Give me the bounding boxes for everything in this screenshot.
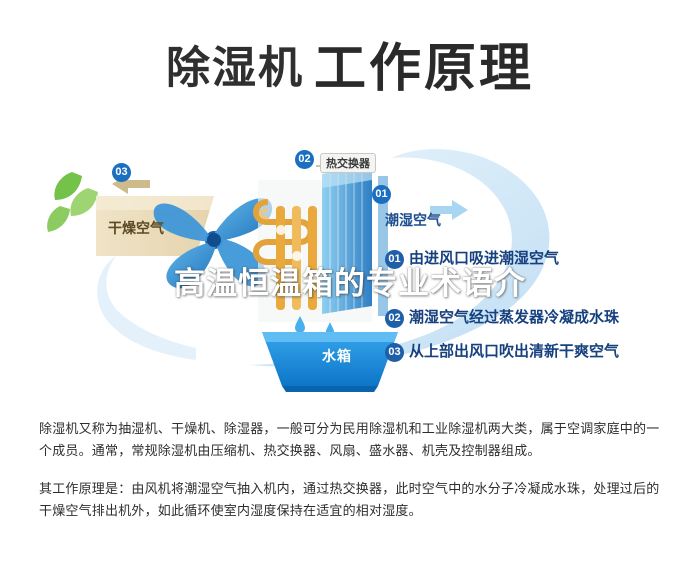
page-root: 除湿机工作原理 <box>0 0 700 566</box>
step-3-text: 从上部出风口吹出清新干爽空气 <box>409 343 619 360</box>
leaf-icon <box>47 172 98 232</box>
paragraph-1: 除湿机又称为抽湿机、干燥机、除湿器，一般可分为民用除湿机和工业除湿机两大类，属于… <box>39 418 667 462</box>
wet-air-label: 潮湿空气 <box>385 210 441 230</box>
dry-air-label: 干燥空气 <box>108 218 164 238</box>
marker-03-left-badge: 03 <box>112 163 131 182</box>
marker-01-badge: 01 <box>372 185 391 204</box>
step-3-badge: 03 <box>385 343 404 362</box>
heat-exchanger-label: 热交换器 <box>320 153 376 173</box>
step-2-badge: 02 <box>385 309 404 328</box>
watermark-headline: 高温恒温箱的专业术语介 <box>0 258 700 303</box>
marker-01: 01 <box>372 185 396 204</box>
page-title: 除湿机工作原理 <box>0 26 700 101</box>
step-2: 02潮湿空气经过蒸发器冷凝成水珠 <box>385 306 619 328</box>
paragraph-2: 其工作原理是：由风机将潮湿空气抽入机内，通过热交换器，此时空气中的水分子冷凝成水… <box>39 478 667 522</box>
marker-03-left: 03 <box>112 163 136 182</box>
marker-02: 02 <box>295 150 319 169</box>
dehumidifier-diagram: 03 02 01 热交换器 干燥空气 潮湿空气 水箱 01由进风口吸进潮湿空气 … <box>0 110 700 395</box>
step-3: 03从上部出风口吹出清新干爽空气 <box>385 340 619 362</box>
step-2-text: 潮湿空气经过蒸发器冷凝成水珠 <box>409 309 619 326</box>
marker-02-badge: 02 <box>295 150 314 169</box>
title-part-1: 除湿机 <box>166 44 304 93</box>
title-part-2: 工作原理 <box>314 40 534 98</box>
water-tank-label: 水箱 <box>322 346 352 366</box>
body-copy: 除湿机又称为抽湿机、干燥机、除湿器，一般可分为民用除湿机和工业除湿机两大类，属于… <box>39 418 667 522</box>
